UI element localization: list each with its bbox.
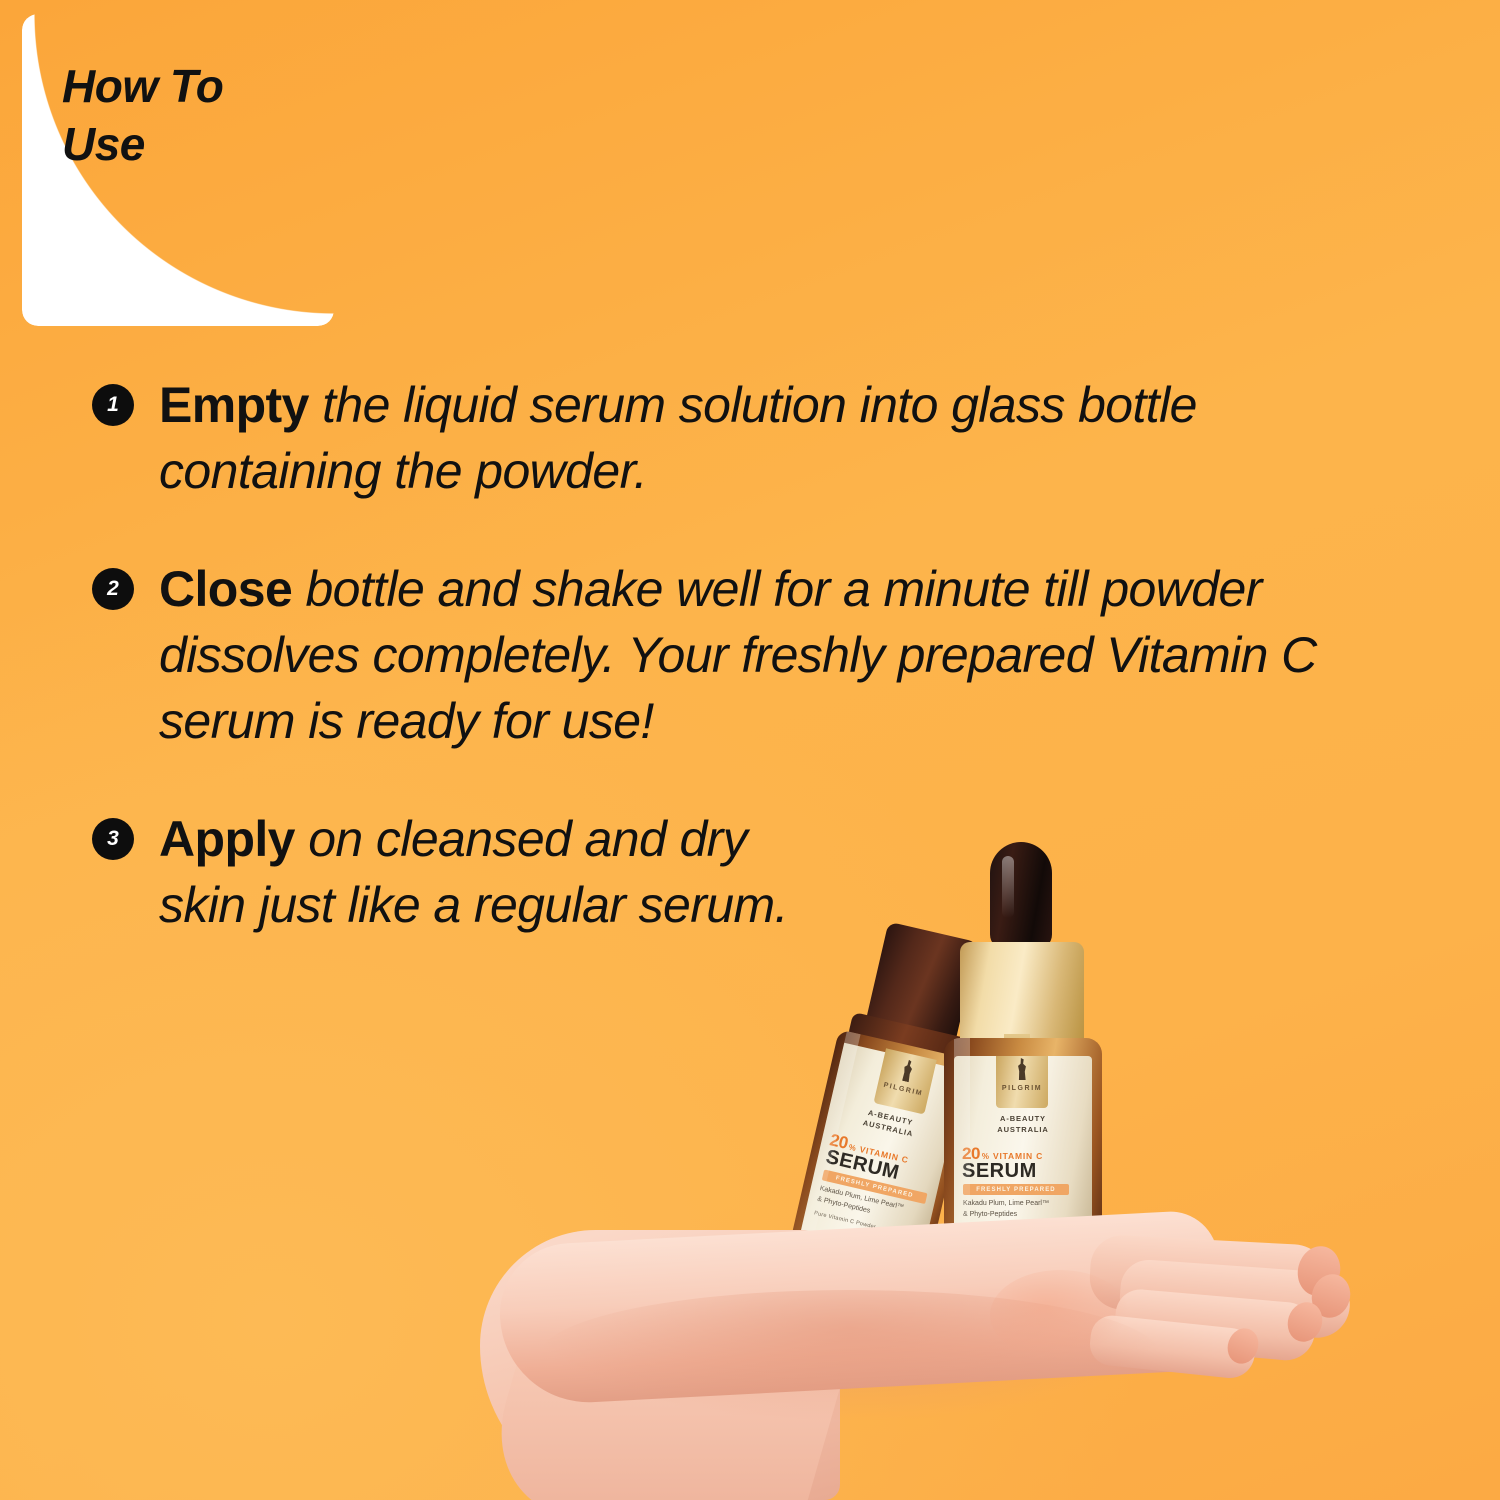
open-palm bbox=[0, 1170, 1500, 1500]
step-item: 1 Empty the liquid serum solution into g… bbox=[92, 372, 1402, 504]
step-text: Empty the liquid serum solution into gla… bbox=[159, 372, 1349, 504]
pilgrim-figure-icon bbox=[1015, 1058, 1029, 1080]
brand-name: PILGRIM bbox=[996, 1085, 1048, 1092]
dropper-bulb-icon bbox=[990, 842, 1052, 950]
step-detail-text: bottle and shake well for a minute till … bbox=[159, 561, 1317, 749]
step-text: Close bottle and shake well for a minute… bbox=[159, 556, 1389, 754]
step-lead-word: Empty bbox=[159, 377, 309, 433]
how-to-use-product-card: How To Use 1 Empty the liquid serum solu… bbox=[0, 0, 1500, 1500]
palm-shading bbox=[540, 1290, 1160, 1420]
step-lead-word: Close bbox=[159, 561, 292, 617]
brand-tagline: A-BEAUTY AUSTRALIA bbox=[954, 1114, 1092, 1136]
brand-banner: PILGRIM bbox=[996, 1056, 1048, 1108]
badge-title: How To Use bbox=[62, 58, 223, 173]
dropper-gold-collar bbox=[960, 942, 1084, 1052]
pilgrim-figure-icon bbox=[898, 1058, 917, 1083]
step-detail-text: the liquid serum solution into glass bot… bbox=[159, 377, 1197, 499]
step-number-badge: 2 bbox=[92, 568, 134, 610]
product-photo: PILGRIM A-BEAUTY AUSTRALIA 20 % VITAMIN … bbox=[0, 830, 1500, 1500]
step-number-badge: 1 bbox=[92, 384, 134, 426]
brand-banner: PILGRIM bbox=[873, 1048, 936, 1114]
brand-name: PILGRIM bbox=[877, 1080, 929, 1099]
how-to-use-badge: How To Use bbox=[22, 14, 334, 326]
step-item: 2 Close bottle and shake well for a minu… bbox=[92, 556, 1402, 754]
